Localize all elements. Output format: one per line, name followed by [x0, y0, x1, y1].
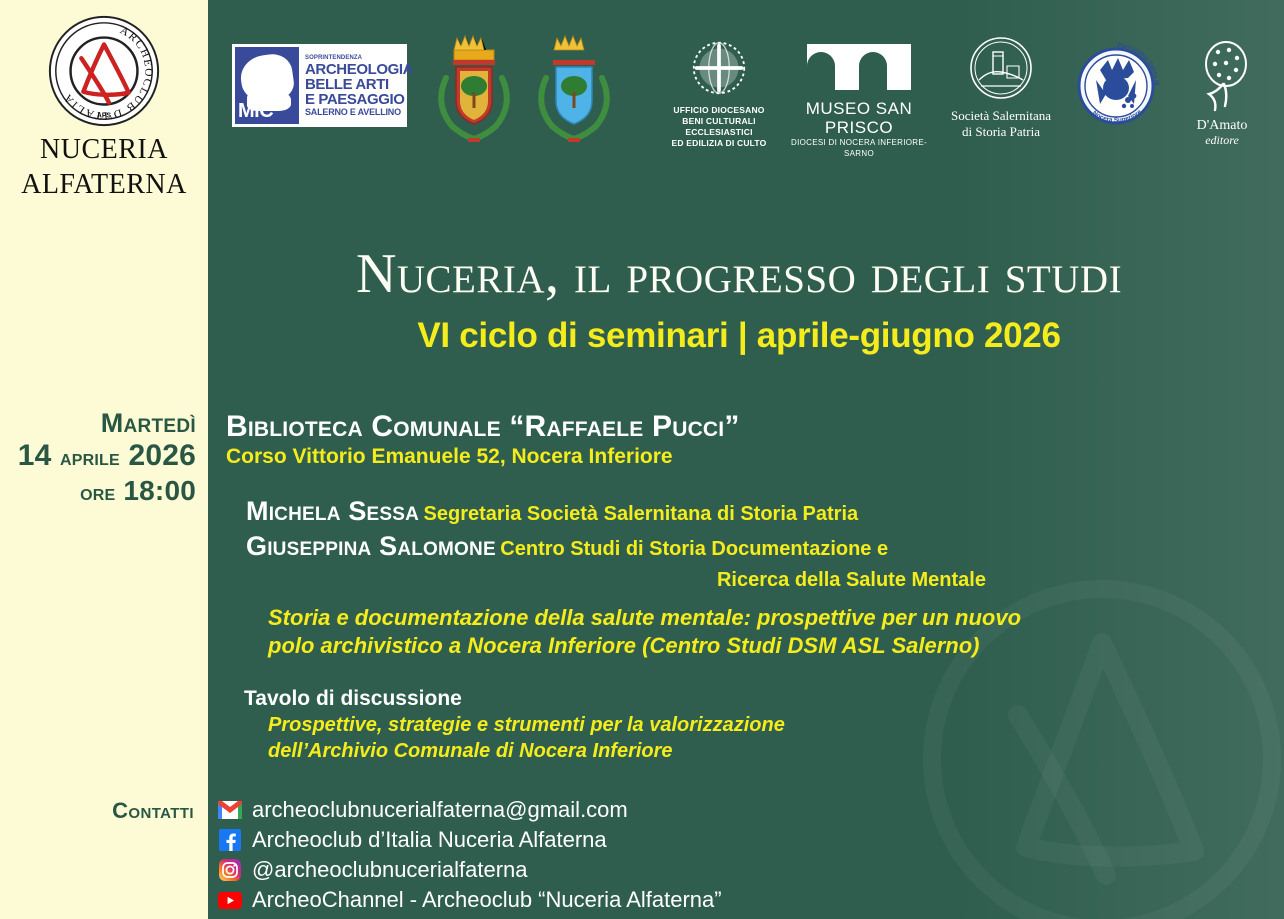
speaker-row: Giuseppina Salomone Centro Studi di Stor… — [246, 531, 1046, 594]
gmail-icon — [218, 799, 242, 821]
discussion-line2: dell’Archivio Comunale di Nocera Inferio… — [268, 738, 1028, 764]
society-seal-icon — [969, 36, 1033, 100]
brand-name-line1: NUCERIA — [0, 132, 208, 167]
diocesan-globe-cross-icon — [691, 40, 747, 96]
contacts-label: Contatti — [112, 798, 194, 824]
event-day-of-week: Martedì — [0, 408, 196, 438]
event-month: aprile — [60, 444, 120, 470]
page-title: Nuceria, il progresso degli studi — [214, 244, 1264, 304]
mic-emblem-icon: MiC — [235, 47, 299, 124]
instagram-icon — [218, 859, 242, 881]
sponsor-parrocchia: Parrocchia Santa Maria Maggiore Nocera S… — [1066, 36, 1182, 141]
talk-line2: polo archivistico a Nocera Inferiore (Ce… — [268, 632, 1068, 660]
speaker-name: Michela Sessa — [246, 496, 419, 526]
speaker-name: Giuseppina Salomone — [246, 531, 496, 561]
talk-line1: Storia e documentazione della salute men… — [268, 604, 1068, 632]
speakers-list: Michela Sessa Segretaria Società Salerni… — [246, 496, 1046, 594]
discussion-line1: Prospettive, strategie e strumenti per l… — [268, 712, 1028, 738]
contacts-list: archeoclubnucerialfaterna@gmail.com Arch… — [218, 796, 722, 916]
damato-line1: D'Amato — [1174, 118, 1270, 133]
civic-crest-red-tree-icon — [424, 34, 524, 158]
left-sidebar-panel: ARCHEOCLUB D'ITALIA APS NUCERIA ALFATERN… — [0, 0, 208, 919]
parish-blue-circle-icon: Parrocchia Santa Maria Maggiore Nocera S… — [1066, 36, 1166, 136]
sponsor-mic-logo: MiC SOPRINTENDENZA ARCHEOLOGIA BELLE ART… — [232, 44, 407, 127]
speaker-role: Segretaria Società Salernitana di Storia… — [424, 503, 859, 525]
facebook-icon — [218, 829, 242, 851]
event-time-row: ore 18:00 — [0, 475, 196, 508]
mic-line5: SALERNO E AVELLINO — [305, 108, 413, 117]
ssp-line2: di Storia Patria — [932, 124, 1070, 140]
contact-facebook-text: Archeoclub d’Italia Nuceria Alfaterna — [252, 827, 607, 853]
venue-name: Biblioteca Comunale “Raffaele Pucci” — [226, 410, 740, 444]
speaker-role: Centro Studi di Storia Documentazione e — [500, 538, 888, 560]
mic-line2: ARCHEOLOGIA — [305, 62, 413, 77]
ssp-line1: Società Salernitana — [932, 108, 1070, 124]
sponsor-ufficio-diocesano: UFFICIO DIOCESANO BENI CULTURALI ECCLESI… — [654, 40, 784, 149]
contact-item-youtube[interactable]: ArcheoChannel - Archeoclub “Nuceria Alfa… — [218, 886, 722, 914]
sponsor-logo-strip: MiC SOPRINTENDENZA ARCHEOLOGIA BELLE ART… — [214, 18, 1274, 170]
brand-name-line2: ALFATERNA — [0, 167, 208, 202]
damato-tree-icon — [1193, 40, 1251, 112]
mic-mark: MiC — [238, 100, 273, 123]
poster-canvas: ARCHEOCLUB D'ITALIA APS NUCERIA ALFATERN… — [0, 0, 1284, 919]
venue-address: Corso Vittorio Emanuele 52, Nocera Infer… — [226, 444, 673, 470]
speaker-role-line2: Ricerca della Salute Mentale — [246, 566, 1046, 594]
contact-instagram-text: @archeoclubnucerialfaterna — [252, 857, 528, 883]
talk-title: Storia e documentazione della salute men… — [268, 604, 1068, 660]
discussion-subtitle: Prospettive, strategie e strumenti per l… — [268, 712, 1028, 764]
museo-line2: DIOCESI DI NOCERA INFERIORE-SARNO — [784, 137, 934, 159]
youtube-icon — [218, 889, 242, 911]
event-date: 14 aprile 2026 — [0, 438, 196, 475]
event-time: 18:00 — [123, 475, 196, 506]
archeoclub-logo-icon: ARCHEOCLUB D'ITALIA APS — [30, 12, 178, 134]
page-subtitle: VI ciclo di seminari | aprile-giugno 202… — [214, 316, 1264, 356]
sponsor-museo-san-prisco: MUSEO SAN PRISCO DIOCESI DI NOCERA INFER… — [784, 40, 934, 159]
dioc-line1: UFFICIO DIOCESANO — [654, 105, 784, 116]
mic-line4: E PAESAGGIO — [305, 92, 413, 107]
mic-line1: SOPRINTENDENZA — [305, 55, 413, 61]
event-day-number: 14 — [18, 439, 52, 472]
brand-name: NUCERIA ALFATERNA — [0, 132, 208, 202]
contact-email-text: archeoclubnucerialfaterna@gmail.com — [252, 797, 628, 823]
contact-item-email[interactable]: archeoclubnucerialfaterna@gmail.com — [218, 796, 722, 824]
dioc-line2: BENI CULTURALI ECCLESIASTICI — [654, 116, 784, 138]
museo-line1: MUSEO SAN PRISCO — [784, 99, 934, 137]
contact-item-facebook[interactable]: Archeoclub d’Italia Nuceria Alfaterna — [218, 826, 722, 854]
discussion-heading: Tavolo di discussione — [244, 686, 462, 712]
mic-line3: BELLE ARTI — [305, 77, 413, 92]
contact-youtube-text: ArcheoChannel - Archeoclub “Nuceria Alfa… — [252, 887, 722, 913]
event-year: 2026 — [128, 439, 196, 472]
svg-text:APS: APS — [97, 112, 112, 119]
contact-item-instagram[interactable]: @archeoclubnucerialfaterna — [218, 856, 722, 884]
event-date-block: Martedì 14 aprile 2026 ore 18:00 — [0, 408, 196, 508]
damato-line2: editore — [1174, 133, 1270, 147]
sponsor-societa-salernitana: Società Salernitana di Storia Patria — [932, 36, 1070, 140]
speaker-row: Michela Sessa Segretaria Società Salerni… — [246, 496, 1046, 531]
museum-m-arch-icon — [803, 40, 915, 90]
event-time-label: ore — [80, 479, 115, 505]
civic-crest-blue-tree-icon — [524, 34, 624, 158]
dioc-line3: ED EDILIZIA DI CULTO — [654, 138, 784, 149]
sponsor-damato-editore: D'Amato editore — [1174, 40, 1270, 147]
